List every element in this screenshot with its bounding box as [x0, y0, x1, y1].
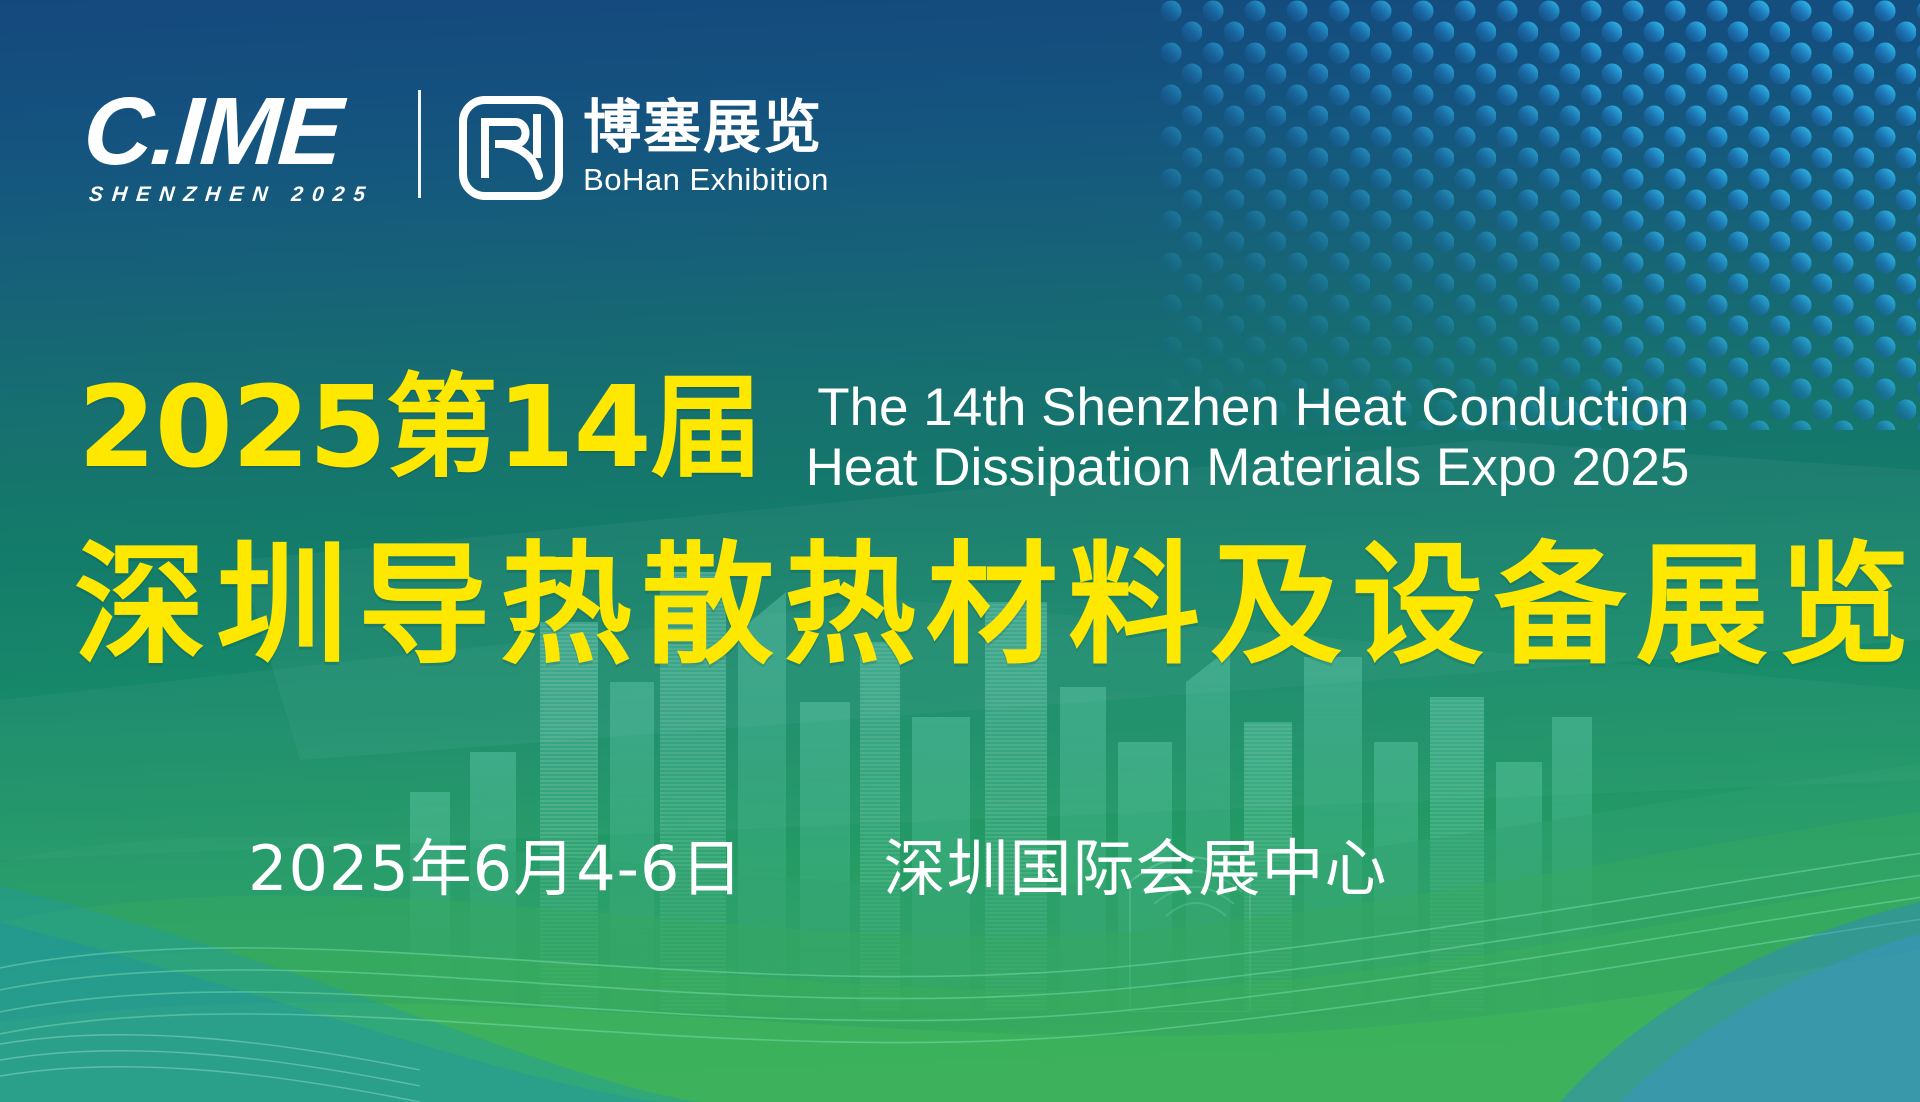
edition-title-cn: 2025第14届	[78, 372, 762, 484]
event-info-footer: 2025年6月4-6日 深圳国际会展中心	[248, 818, 1388, 908]
event-poster: C.IME SHENZHEN 2025 博塞展览 BoHan Exhibitio…	[0, 0, 1920, 1102]
event-date: 2025年6月4-6日	[248, 818, 744, 908]
event-venue: 深圳国际会展中心	[884, 818, 1388, 908]
expo-title-cn: 深圳导热散热材料及设备展览会	[74, 540, 1920, 672]
logo-header: C.IME SHENZHEN 2025 博塞展览 BoHan Exhibitio…	[84, 88, 829, 207]
bohan-name-cn: 博塞展览	[583, 98, 829, 157]
cime-wordmark: C.IME	[81, 88, 344, 176]
bohan-text-block: 博塞展览 BoHan Exhibition	[583, 98, 829, 198]
headline-row: 2025第14届 The 14th Shenzhen Heat Conducti…	[78, 372, 1860, 499]
halftone-dots-pattern	[1160, 0, 1920, 430]
bohan-logo[interactable]: 博塞展览 BoHan Exhibition	[459, 96, 829, 200]
expo-title-en-line2: Heat Dissipation Materials Expo 2025	[806, 438, 1690, 498]
vertical-divider-icon	[418, 90, 421, 198]
expo-title-en: The 14th Shenzhen Heat Conduction Heat D…	[806, 378, 1690, 499]
bohan-monogram-icon	[459, 96, 563, 200]
cime-logo[interactable]: C.IME SHENZHEN 2025	[84, 88, 374, 207]
bohan-name-en: BoHan Exhibition	[583, 162, 829, 198]
cime-subtitle: SHENZHEN 2025	[88, 183, 376, 207]
expo-title-en-line1: The 14th Shenzhen Heat Conduction	[806, 378, 1690, 438]
